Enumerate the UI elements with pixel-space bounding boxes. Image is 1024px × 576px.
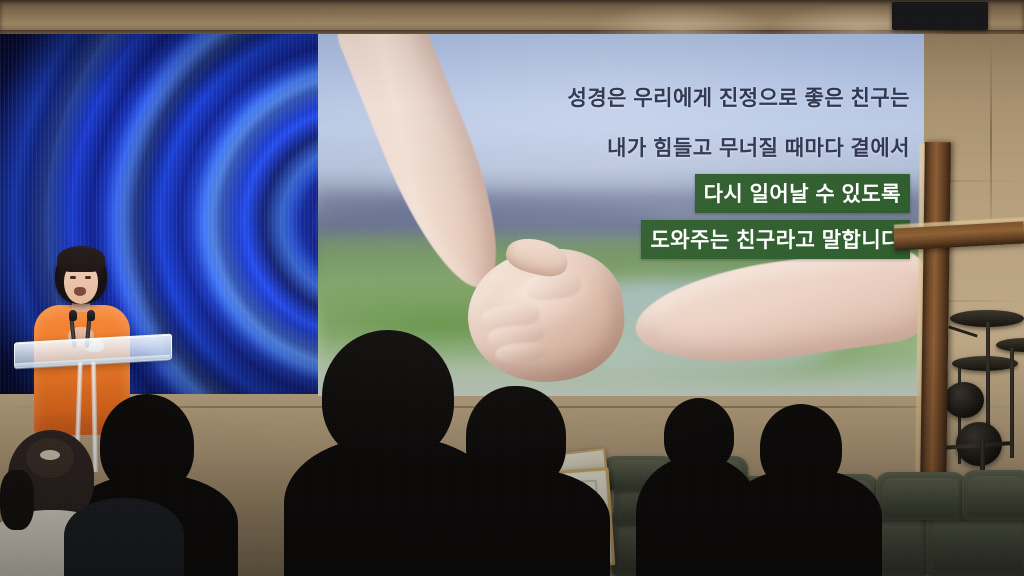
cymbal-icon — [952, 356, 1018, 371]
slide-line-1: 성경은 우리에게 진정으로 좋은 친구는 — [568, 82, 910, 112]
wall-vertical-seam — [990, 40, 992, 240]
auditorium-seat — [876, 472, 966, 520]
slide-line-3-highlight: 다시 일어날 수 있도록 — [695, 174, 910, 213]
microphone-icon[interactable] — [69, 310, 77, 321]
audience-shoulders — [636, 456, 760, 576]
audience-shoulders — [284, 436, 500, 576]
seat-cushion — [883, 478, 959, 517]
ceiling-speaker — [892, 2, 988, 30]
screenshot-root: 성경은 우리에게 진정으로 좋은 친구는 내가 힘들고 무너질 때마다 곁에서 … — [0, 0, 1024, 576]
drum-pad — [944, 382, 984, 418]
hair-tie — [40, 450, 60, 460]
cymbal-stand — [1010, 348, 1014, 458]
speaker-eye — [70, 276, 76, 279]
slide-line-2: 내가 힘들고 무너질 때마다 곁에서 — [607, 132, 910, 162]
speaker-mouth — [74, 287, 86, 296]
slide-line-4-highlight: 도와주는 친구라고 말합니다 — [641, 220, 910, 259]
audience-head — [0, 470, 34, 530]
seat-cushion — [968, 476, 1024, 517]
audience-shoulders — [64, 498, 184, 576]
auditorium-seat — [962, 470, 1024, 520]
microphone-icon[interactable] — [87, 310, 95, 321]
speaker-hair-bangs — [57, 246, 105, 272]
speaker-eye — [85, 276, 91, 279]
